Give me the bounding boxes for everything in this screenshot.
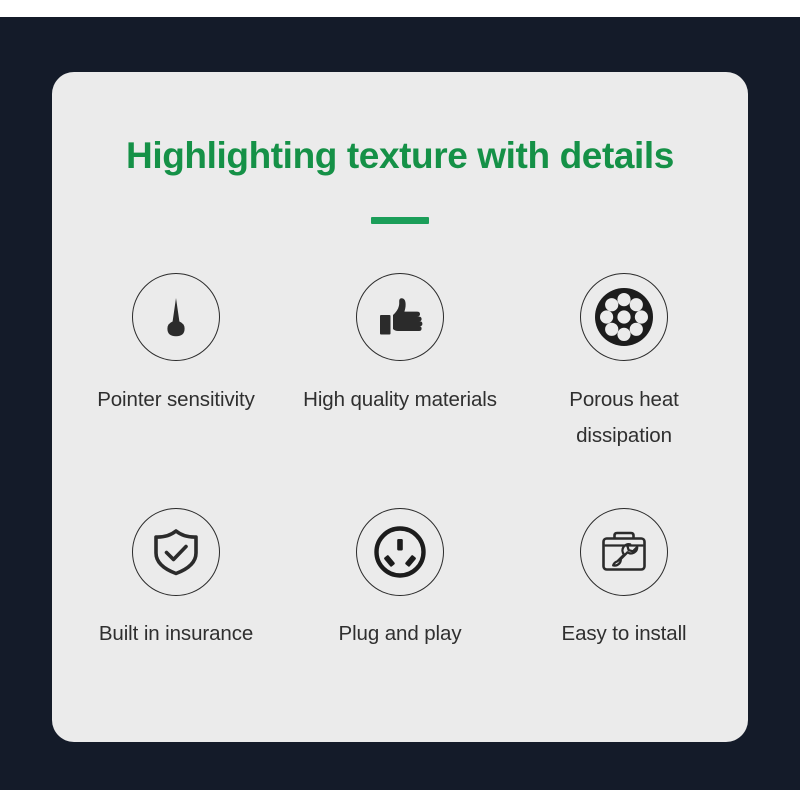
- feature-card: Highlighting texture with details Pointe…: [52, 72, 748, 742]
- feature-label: Easy to install: [562, 616, 687, 652]
- product-feature-page: Highlighting texture with details Pointe…: [0, 0, 800, 800]
- icon-circle: [356, 508, 444, 596]
- card-heading-block: Highlighting texture with details: [52, 134, 748, 224]
- feature-item-porous-heat-dissipation: Porous heat dissipation: [512, 273, 736, 454]
- feature-label: Pointer sensitivity: [97, 382, 255, 418]
- feature-grid: Pointer sensitivity High quality materia…: [64, 273, 736, 652]
- toolbox-wrench-icon: [597, 525, 651, 579]
- feature-label: Built in insurance: [99, 616, 253, 652]
- feature-item-built-in-insurance: Built in insurance: [64, 508, 288, 652]
- porous-heat-dissipation-icon: [593, 286, 655, 348]
- pointer-gauge-needle-icon: [151, 292, 201, 342]
- feature-item-high-quality-materials: High quality materials: [288, 273, 512, 454]
- feature-item-pointer-sensitivity: Pointer sensitivity: [64, 273, 288, 454]
- page-title: Highlighting texture with details: [52, 134, 748, 178]
- icon-circle: [132, 273, 220, 361]
- shield-check-icon: [150, 526, 202, 578]
- feature-label: Porous heat dissipation: [524, 382, 724, 454]
- icon-circle: [132, 508, 220, 596]
- power-socket-icon: [372, 524, 428, 580]
- icon-circle: [356, 273, 444, 361]
- thumbs-up-icon: [374, 291, 426, 343]
- icon-circle: [580, 273, 668, 361]
- title-accent-bar: [371, 217, 429, 224]
- feature-item-plug-and-play: Plug and play: [288, 508, 512, 652]
- icon-circle: [580, 508, 668, 596]
- feature-label: High quality materials: [303, 382, 497, 418]
- feature-label: Plug and play: [339, 616, 462, 652]
- feature-item-easy-to-install: Easy to install: [512, 508, 736, 652]
